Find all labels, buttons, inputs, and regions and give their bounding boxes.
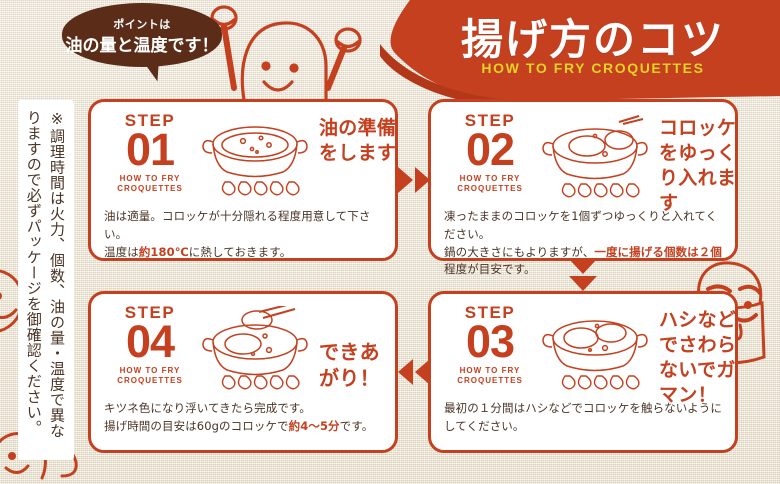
pot-with-chopsticks-adding-croquette-icon (535, 114, 655, 204)
step-body-02-line1: 凍ったままのコロッケを1個ずつゆっくりと入れてください。 (444, 209, 717, 241)
bubble-line-2: 油の量と温度です！ (52, 31, 232, 56)
step-headline-02: コロッケをゆっくり入れます (659, 116, 739, 216)
bubble-line-1: ポイントは (62, 16, 222, 32)
step-body-01-line2-post: に熱しておきます。 (189, 245, 292, 259)
step-sub-04: HOW TO FRY CROQUETTES (104, 366, 196, 386)
step-label-block-03: STEP 03 HOW TO FRY CROQUETTES (444, 304, 536, 386)
step-card-03: STEP 03 HOW TO FRY CROQUETTES ハシなどでさわらない… (428, 291, 738, 453)
step-sub-01: HOW TO FRY CROQUETTES (104, 174, 196, 194)
step-body-01-line1: 油は適量。コロッケが十分隠れる程度用意して下さい。 (104, 209, 370, 241)
step-sub-02: HOW TO FRY CROQUETTES (444, 174, 536, 194)
side-note: ※調理時間は火力、個数、油の量・温度で異なりますので必ずパッケージを御確認くださ… (18, 100, 74, 460)
step-number-01: 01 (104, 129, 196, 172)
step-body-02-line2-pre: 鍋の大きさにもよりますが、 (444, 245, 594, 259)
infographic-canvas: 揚げ方のコツ HOW TO FRY CROQUETTES ポイントは 油の量と温… (0, 0, 780, 484)
double-arrow-down-icon (569, 259, 597, 291)
step-body-04-highlight: 約4〜5分 (289, 419, 340, 433)
double-arrow-left-icon (398, 359, 430, 385)
pot-with-two-croquettes-frying-icon (535, 306, 655, 396)
page-subtitle: HOW TO FRY CROQUETTES (428, 60, 758, 76)
step-headline-04: できあがり！ (319, 340, 399, 393)
step-number-03: 03 (444, 321, 536, 364)
step-body-03: 最初の１分間はハシなどでコロッケを触らないように してください。 (444, 400, 727, 436)
step-headline-01: 油の準備をします (319, 116, 399, 166)
step-body-04-line2-pre: 揚げ時間の目安は60gのコロッケで (104, 419, 289, 433)
step-label-block-02: STEP 02 HOW TO FRY CROQUETTES (444, 112, 536, 194)
step-body-01-highlight: 約180℃ (139, 245, 189, 259)
header-ribbon: 揚げ方のコツ HOW TO FRY CROQUETTES (380, 0, 780, 107)
step-number-02: 02 (444, 129, 536, 172)
page-title: 揚げ方のコツ (428, 6, 758, 67)
step-label-block-04: STEP 04 HOW TO FRY CROQUETTES (104, 304, 196, 386)
step-label-block-01: STEP 01 HOW TO FRY CROQUETTES (104, 112, 196, 194)
step-card-02: STEP 02 HOW TO FRY CROQUETTES コロッケをゆっくり入… (428, 99, 738, 261)
step-body-04: キツネ色になり浮いてきたら完成です。 揚げ時間の目安は60gのコロッケで約4〜5… (104, 400, 387, 436)
step-card-04: STEP 04 HOW TO FRY CROQUETTES できあがり！ (88, 291, 398, 453)
pot-with-chopsticks-lifting-croquette-icon (195, 306, 315, 396)
pot-with-oil-on-stove-icon (195, 114, 315, 204)
step-body-01-line2-pre: 温度は (104, 245, 139, 259)
step-body-04-line2-post: です。 (340, 419, 374, 433)
bubble-tail (139, 53, 163, 83)
step-sub-03: HOW TO FRY CROQUETTES (444, 366, 536, 386)
step-number-04: 04 (104, 321, 196, 364)
step-card-01: STEP 01 HOW TO FRY CROQUETTES 油の準備をします 油… (88, 99, 398, 261)
step-body-02-line2-post: 程度が目安です。 (444, 262, 536, 276)
step-body-02-highlight: 一度に揚げる個数は２個 (594, 245, 722, 259)
step-body-04-line1: キツネ色になり浮いてきたら完成です。 (104, 401, 311, 415)
double-arrow-right-icon (398, 167, 430, 193)
step-headline-03: ハシなどでさわらないでガマン！ (659, 308, 739, 408)
step-body-03-line2-pre: してください。 (444, 419, 525, 433)
step-body-01: 油は適量。コロッケが十分隠れる程度用意して下さい。 温度は約180℃に熱しておき… (104, 208, 387, 261)
step-body-03-line1: 最初の１分間はハシなどでコロッケを触らないように (444, 401, 722, 415)
